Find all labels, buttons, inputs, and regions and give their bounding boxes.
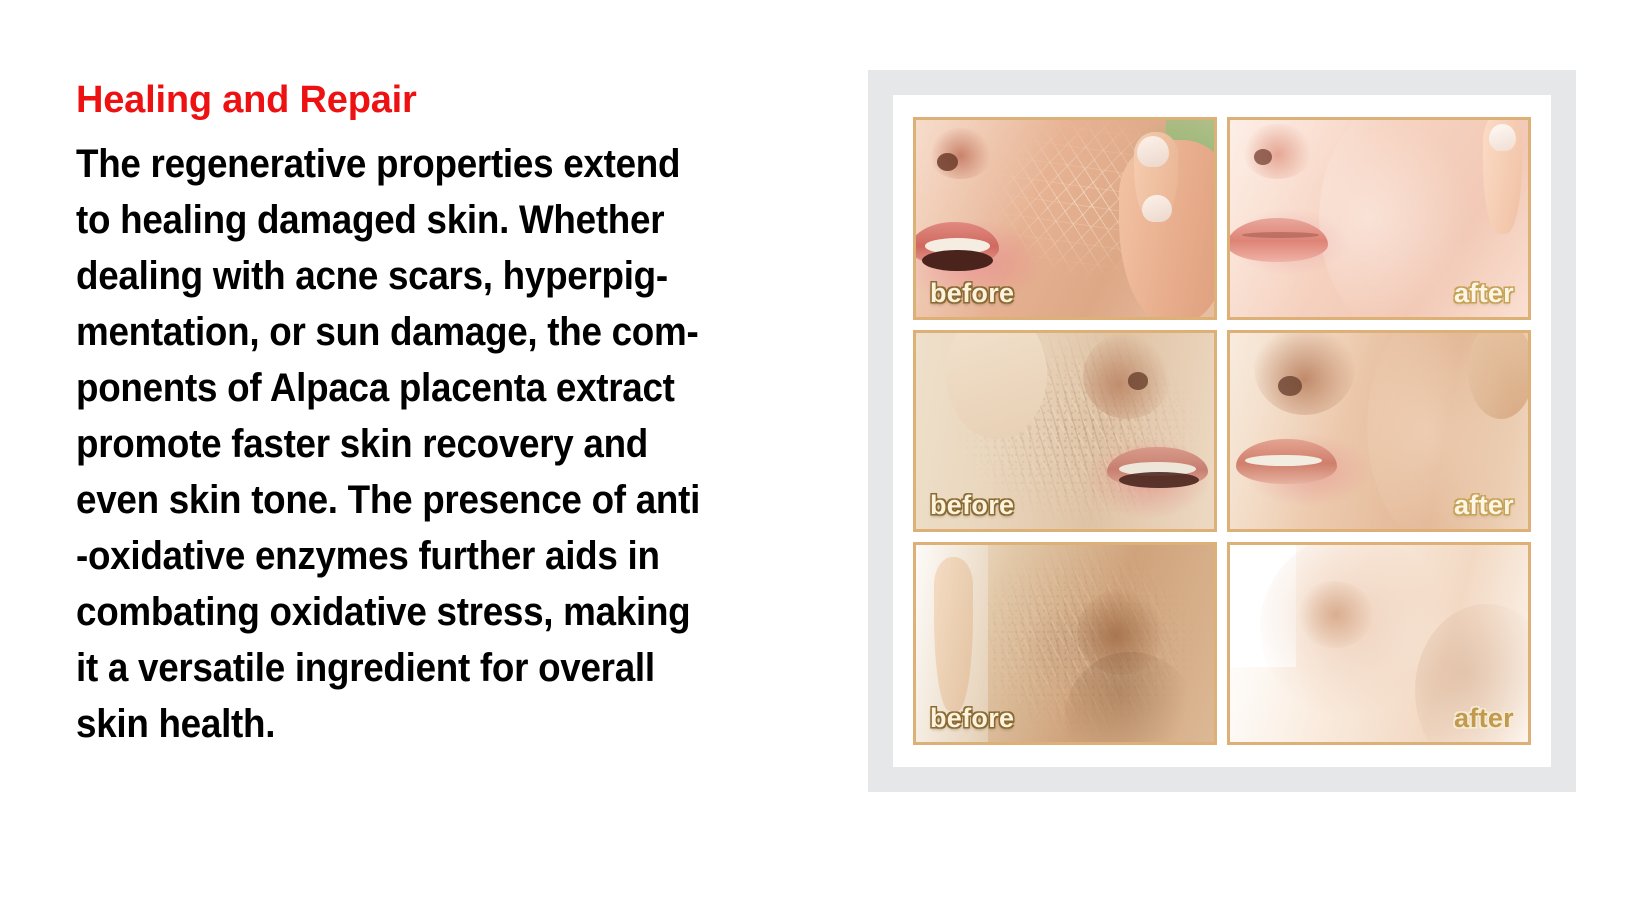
body-line: it a versatile ingredient for overall xyxy=(76,640,794,696)
body-line: mentation, or sun damage, the com- xyxy=(76,304,794,360)
body-line: to healing damaged skin. Whether xyxy=(76,192,794,248)
body-line: combating oxidative stress, making xyxy=(76,584,794,640)
body-line: The regenerative properties extend xyxy=(76,136,794,192)
before-after-cell: after xyxy=(1227,542,1531,745)
caption-after: after xyxy=(1454,703,1514,734)
nose-shadow xyxy=(1242,124,1314,179)
body-line: dealing with acne scars, hyperpig- xyxy=(76,248,794,304)
nostril xyxy=(937,153,958,171)
slide-canvas: Healing and Repair The regenerative prop… xyxy=(0,0,1650,897)
lip-line xyxy=(1242,232,1319,238)
fingernail xyxy=(1142,195,1172,223)
body-line: even skin tone. The presence of anti xyxy=(76,472,794,528)
body-line: promote faster skin recovery and xyxy=(76,416,794,472)
before-after-cell: before xyxy=(913,542,1217,745)
before-after-grid: before after xyxy=(893,95,1551,767)
caption-after: after xyxy=(1454,490,1514,521)
nose-shadow xyxy=(928,128,994,179)
nostril xyxy=(1254,149,1272,165)
fingernail xyxy=(1489,124,1516,152)
body-line: -oxidative enzymes further aids in xyxy=(76,528,794,584)
finger xyxy=(934,557,973,710)
body-line: skin health. xyxy=(76,696,794,752)
before-after-cell: before xyxy=(913,117,1217,320)
caption-before: before xyxy=(930,490,1014,521)
before-after-cell: before xyxy=(913,330,1217,533)
caption-before: before xyxy=(930,703,1014,734)
text-column: Healing and Repair The regenerative prop… xyxy=(76,78,856,752)
before-after-cell: after xyxy=(1227,117,1531,320)
chin-shadow xyxy=(1296,581,1373,648)
body-paragraph: The regenerative properties extend to he… xyxy=(76,136,794,752)
nostril xyxy=(1278,376,1302,396)
nostril xyxy=(1128,372,1149,390)
caption-after: after xyxy=(1454,278,1514,309)
page-title: Healing and Repair xyxy=(76,78,856,122)
before-after-image-panel: before after xyxy=(868,70,1576,792)
fingernail xyxy=(1137,136,1170,167)
nose-shadow xyxy=(1083,333,1172,420)
before-after-cell: after xyxy=(1227,330,1531,533)
caption-before: before xyxy=(930,278,1014,309)
body-line: ponents of Alpaca placenta extract xyxy=(76,360,794,416)
mouth-opening xyxy=(1119,472,1199,488)
lips xyxy=(1227,218,1328,261)
